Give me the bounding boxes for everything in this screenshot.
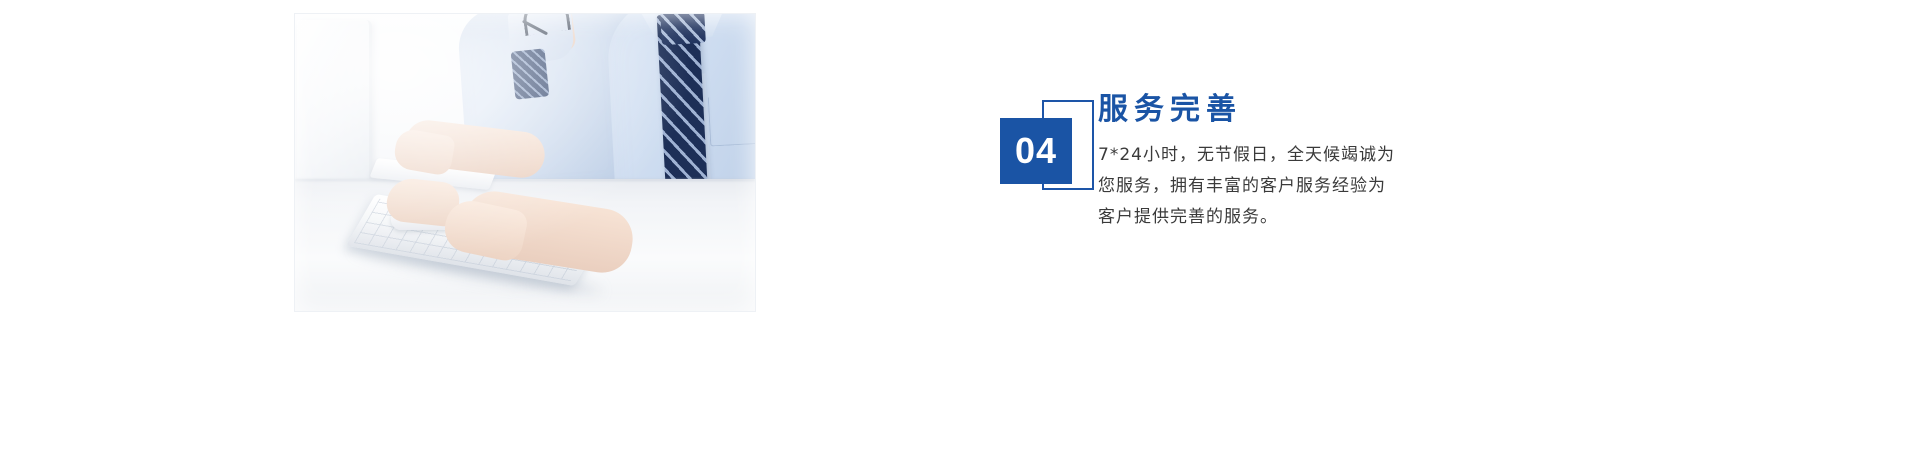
- monitor-icon: [297, 20, 372, 185]
- badge-number: 04: [1015, 133, 1057, 169]
- badge-filled-square: 04: [1000, 118, 1072, 184]
- desk-edge: [295, 179, 755, 181]
- photo-background: [295, 14, 755, 311]
- description-line-1: 7*24小时，无节假日，全天候竭诚为: [1098, 140, 1518, 171]
- feature-section: 04 服务完善 7*24小时，无节假日，全天候竭诚为 您服务，拥有丰富的客户服务…: [0, 0, 1920, 452]
- description-line-3: 客户提供完善的服务。: [1098, 202, 1518, 233]
- description-line-2: 您服务，拥有丰富的客户服务经验为: [1098, 171, 1518, 202]
- front-person-pocket: [708, 95, 755, 147]
- feature-description: 7*24小时，无节假日，全天候竭诚为 您服务，拥有丰富的客户服务经验为 客户提供…: [1098, 140, 1518, 233]
- front-person-tie-knot: [660, 14, 706, 45]
- feature-photo: [295, 14, 755, 311]
- feature-number-badge: 04: [1000, 100, 1096, 200]
- feature-title: 服务完善: [1098, 92, 1518, 128]
- back-person-tie: [511, 48, 550, 99]
- feature-text-column: 服务完善 7*24小时，无节假日，全天候竭诚为 您服务，拥有丰富的客户服务经验为…: [1098, 92, 1518, 233]
